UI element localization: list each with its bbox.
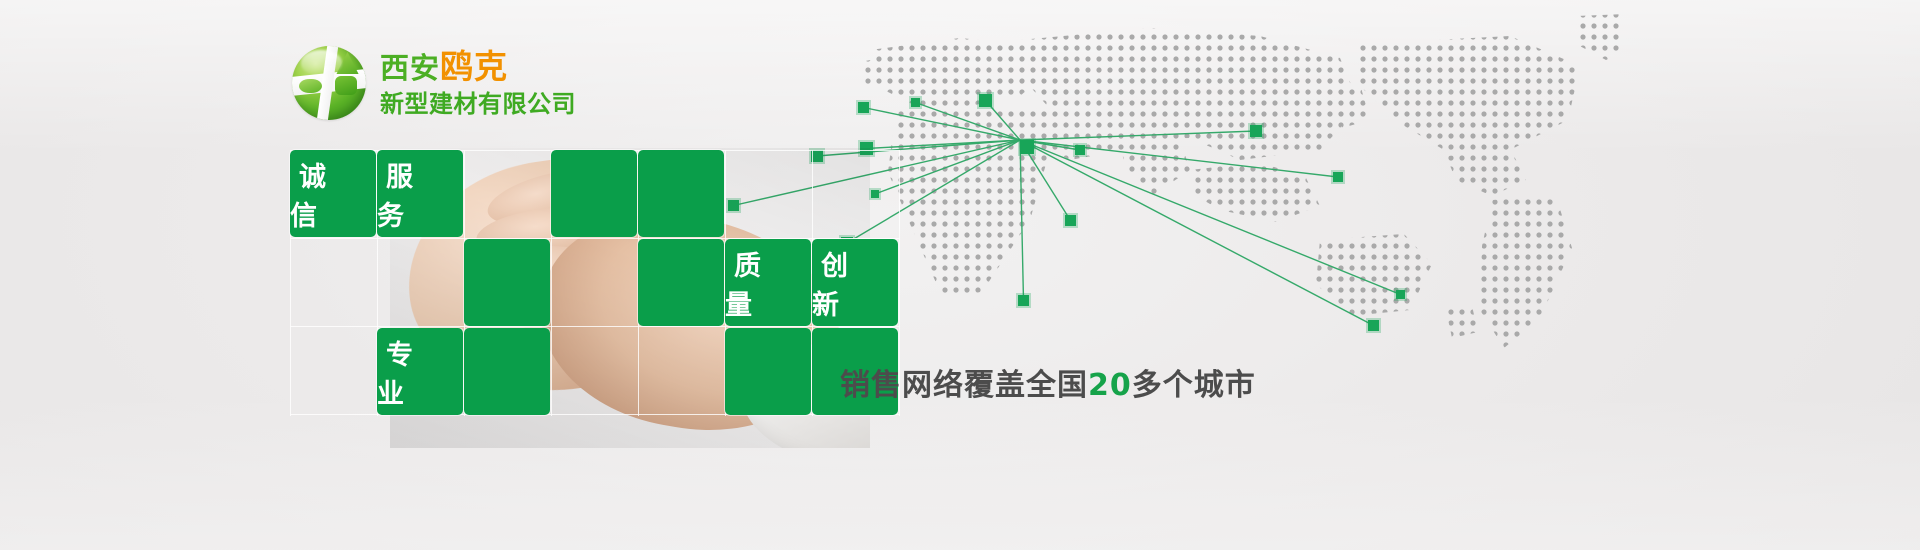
tile-blank-6 <box>725 328 811 415</box>
logo-gloss-highlight <box>301 50 342 75</box>
node-9 <box>1018 295 1029 306</box>
tile-blank-1 <box>551 150 637 237</box>
node-11 <box>1075 145 1085 155</box>
tagline-text-before: 销售网络覆盖全国 <box>840 368 1088 403</box>
tile-blank-3 <box>464 239 550 326</box>
node-10 <box>1065 215 1076 226</box>
company-logo[interactable]: 西安鸥克 新型建材有限公司 <box>292 46 576 120</box>
tile-quality: 质 量 <box>725 239 811 326</box>
node-15 <box>1368 320 1379 331</box>
tagline-text-after: 多个城市 <box>1132 368 1256 403</box>
hub-node-china <box>1020 140 1034 154</box>
node-14 <box>1396 290 1405 299</box>
tile-blank-4 <box>638 239 724 326</box>
company-name-text: 西安鸥克 新型建材有限公司 <box>380 50 576 116</box>
node-1 <box>858 102 869 113</box>
network-link <box>1020 140 1374 326</box>
node-12 <box>1250 125 1262 137</box>
sales-network-tagline: 销售网络覆盖全国20多个城市 <box>840 360 1256 404</box>
company-name-city: 西安 <box>380 51 440 85</box>
tile-integrity: 诚 信 <box>290 150 376 237</box>
tagline-city-count: 20 <box>1088 368 1132 403</box>
node-2 <box>911 98 920 107</box>
values-tile-mosaic: 诚 信服 务质 量创 新专 业 <box>290 150 900 416</box>
company-name-brand: 鸥克 <box>440 47 508 86</box>
hero-banner: 西安鸥克 新型建材有限公司 诚 信服 务质 量创 新专 业 <box>0 0 1920 550</box>
logo-square-shape <box>335 76 357 95</box>
tile-innovation: 创 新 <box>812 239 898 326</box>
company-name-line2: 新型建材有限公司 <box>380 92 576 116</box>
tile-blank-2 <box>638 150 724 237</box>
logo-blob-shape <box>299 79 321 94</box>
tile-expertise: 专 业 <box>377 328 463 415</box>
tile-service: 服 务 <box>377 150 463 237</box>
company-globe-leaf-logo <box>292 46 366 120</box>
node-13 <box>1333 172 1343 182</box>
company-name-line1: 西安鸥克 <box>380 50 576 83</box>
node-3 <box>979 94 992 107</box>
tile-blank-5 <box>464 328 550 415</box>
